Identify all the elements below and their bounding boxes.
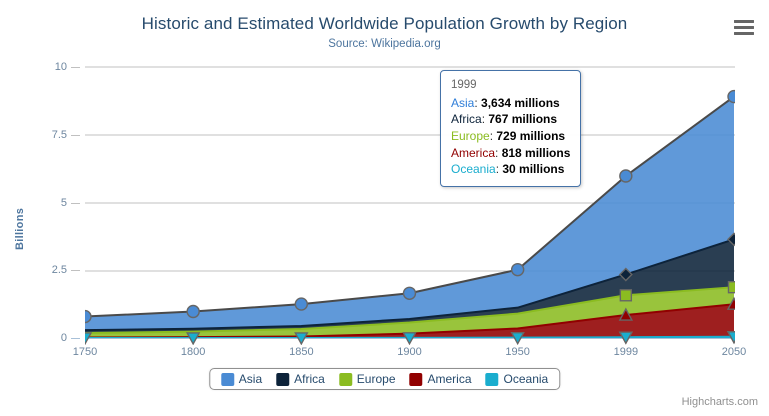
- x-tick-label-1999: 1999: [614, 346, 638, 358]
- legend-label: Asia: [239, 372, 262, 386]
- y-tick-mark-0: [71, 338, 80, 339]
- tooltip-series-name: America: [451, 146, 495, 160]
- tooltip-separator: :: [474, 96, 481, 110]
- legend-label: Oceania: [504, 372, 549, 386]
- x-tick-label-1850: 1850: [289, 346, 313, 358]
- tooltip-series-name: Europe: [451, 129, 490, 143]
- marker-asia-1999[interactable]: [620, 170, 632, 182]
- hamburger-bar-3: [734, 32, 754, 35]
- tooltip-row-africa: Africa: 767 millions: [451, 111, 570, 128]
- marker-europe-2050[interactable]: [729, 282, 736, 293]
- tooltip-series-value: 767 millions: [488, 112, 557, 126]
- tooltip-row-oceania: Oceania: 30 millions: [451, 161, 570, 178]
- chart-tooltip: 1999 Asia: 3,634 millionsAfrica: 767 mil…: [440, 70, 581, 187]
- y-tick-label-0: 0: [61, 332, 67, 344]
- marker-asia-1800[interactable]: [187, 305, 199, 317]
- x-tick-label-1950: 1950: [505, 346, 529, 358]
- marker-asia-1950[interactable]: [512, 264, 524, 276]
- tooltip-rows: Asia: 3,634 millionsAfrica: 767 millions…: [451, 95, 570, 178]
- legend-item-africa[interactable]: Africa: [276, 372, 325, 386]
- marker-europe-1999[interactable]: [620, 290, 631, 301]
- x-tick-label-2050: 2050: [722, 346, 746, 358]
- tooltip-header: 1999: [451, 78, 570, 95]
- tooltip-series-value: 30 millions: [502, 162, 564, 176]
- x-tick-label-1900: 1900: [397, 346, 421, 358]
- tooltip-row-america: America: 818 millions: [451, 145, 570, 162]
- x-tick-label-1750: 1750: [73, 346, 97, 358]
- legend-swatch-africa: [276, 373, 289, 386]
- marker-asia-1750[interactable]: [85, 311, 91, 323]
- tooltip-separator: :: [495, 146, 502, 160]
- legend-label: America: [428, 372, 472, 386]
- tooltip-row-asia: Asia: 3,634 millions: [451, 95, 570, 112]
- y-axis: Billions 02.557.510: [0, 60, 80, 345]
- chart-canvas: [85, 60, 735, 345]
- tooltip-series-name: Africa: [451, 112, 482, 126]
- chart-title: Historic and Estimated Worldwide Populat…: [0, 14, 769, 34]
- legend-swatch-oceania: [486, 373, 499, 386]
- x-tick-label-1800: 1800: [181, 346, 205, 358]
- marker-asia-2050[interactable]: [728, 91, 735, 103]
- hamburger-bar-2: [734, 26, 754, 29]
- y-tick-label-7.5: 7.5: [52, 129, 67, 141]
- highcharts-container: Historic and Estimated Worldwide Populat…: [0, 0, 769, 416]
- tooltip-series-name: Asia: [451, 96, 474, 110]
- hamburger-menu-icon[interactable]: [732, 17, 756, 39]
- legend-swatch-europe: [339, 373, 352, 386]
- legend-label: Europe: [357, 372, 396, 386]
- y-tick-mark-10: [71, 67, 80, 68]
- tooltip-series-name: Oceania: [451, 162, 496, 176]
- legend-swatch-america: [410, 373, 423, 386]
- marker-asia-1900[interactable]: [404, 287, 416, 299]
- chart-subtitle: Source: Wikipedia.org: [0, 38, 769, 50]
- y-tick-mark-2.5: [71, 270, 80, 271]
- legend-item-europe[interactable]: Europe: [339, 372, 396, 386]
- legend-label: Africa: [294, 372, 325, 386]
- marker-asia-1850[interactable]: [295, 298, 307, 310]
- credits-label[interactable]: Highcharts.com: [682, 396, 758, 408]
- y-tick-label-10: 10: [55, 61, 67, 73]
- tooltip-row-europe: Europe: 729 millions: [451, 128, 570, 145]
- plot-area: [85, 60, 735, 345]
- y-tick-mark-7.5: [71, 135, 80, 136]
- legend-item-america[interactable]: America: [410, 372, 472, 386]
- legend-item-asia[interactable]: Asia: [221, 372, 262, 386]
- y-tick-label-5: 5: [61, 197, 67, 209]
- tooltip-series-value: 818 millions: [502, 146, 571, 160]
- legend-swatch-asia: [221, 373, 234, 386]
- y-tick-label-2.5: 2.5: [52, 264, 67, 276]
- y-axis-title: Billions: [14, 208, 26, 250]
- x-axis: 1750180018501900195019992050: [85, 344, 735, 366]
- chart-legend: AsiaAfricaEuropeAmericaOceania: [209, 368, 560, 390]
- legend-item-oceania[interactable]: Oceania: [486, 372, 549, 386]
- hamburger-bar-1: [734, 20, 754, 23]
- tooltip-series-value: 3,634 millions: [481, 96, 560, 110]
- y-tick-mark-5: [71, 203, 80, 204]
- series-layer: [85, 97, 734, 338]
- tooltip-series-value: 729 millions: [496, 129, 565, 143]
